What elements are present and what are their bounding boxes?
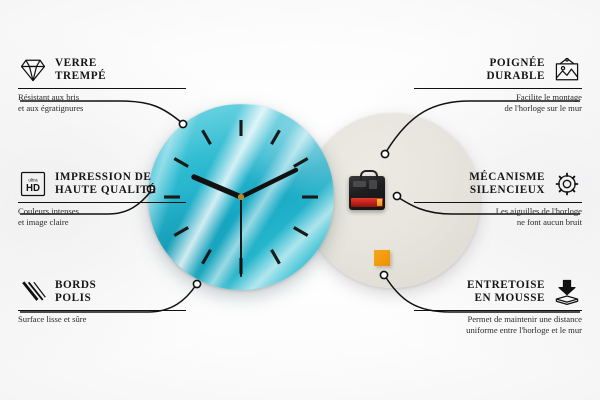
- connector-dot-bords-polis: [193, 280, 200, 287]
- feature-divider: [18, 310, 186, 311]
- connector-dot-entretoise: [380, 271, 387, 278]
- feature-impression-haute-qualite: ultra HD IMPRESSION DE HAUTE QUALITÉ Cou…: [18, 170, 186, 227]
- feature-divider: [18, 202, 186, 203]
- feature-description: Résistant aux bris et aux égratignures: [18, 92, 186, 113]
- feature-verre-trempe: VERRE TREMPÉ Résistant aux bris et aux é…: [18, 56, 186, 113]
- feature-header: MÉCANISME SILENCIEUX: [414, 170, 582, 198]
- feature-mecanisme-silencieux: MÉCANISME SILENCIEUX: [414, 170, 582, 227]
- infographic-canvas: VERRE TREMPÉ Résistant aux bris et aux é…: [0, 0, 600, 400]
- polished-edges-icon: [18, 278, 48, 306]
- ultra-hd-icon: ultra HD: [18, 170, 48, 198]
- diamond-icon: [18, 56, 48, 84]
- feature-header: VERRE TREMPÉ: [18, 56, 186, 84]
- connector-dot-mecanisme: [393, 192, 400, 199]
- svg-text:HD: HD: [26, 183, 40, 194]
- feature-description: Couleurs intenses et image claire: [18, 206, 186, 227]
- feature-header: POIGNÉE DURABLE: [414, 56, 582, 84]
- feature-header: ENTRETOISE EN MOUSSE: [414, 278, 582, 306]
- feature-title: BORDS POLIS: [55, 279, 96, 305]
- feature-entretoise-en-mousse: ENTRETOISE EN MOUSSE Permet de maintenir…: [414, 278, 582, 335]
- feature-divider: [414, 202, 582, 203]
- feature-title: IMPRESSION DE HAUTE QUALITÉ: [55, 171, 156, 197]
- connector-dot-verre-trempe: [179, 120, 186, 127]
- connector-dot-poignee: [381, 150, 388, 157]
- feature-title: ENTRETOISE EN MOUSSE: [467, 279, 545, 305]
- wall-hanger-icon: [552, 56, 582, 84]
- feature-divider: [414, 310, 582, 311]
- feature-header: BORDS POLIS: [18, 278, 186, 306]
- feature-title: POIGNÉE DURABLE: [486, 57, 545, 83]
- foam-spacer-icon: [552, 278, 582, 306]
- gear-icon: [552, 170, 582, 198]
- feature-poignee-durable: POIGNÉE DURABLE Facilite le montage de l…: [414, 56, 582, 113]
- feature-title: VERRE TREMPÉ: [55, 57, 106, 83]
- feature-bords-polis: BORDS POLIS Surface lisse et sûre: [18, 278, 186, 325]
- feature-description: Permet de maintenir une distance uniform…: [414, 314, 582, 335]
- feature-divider: [414, 88, 582, 89]
- feature-description: Surface lisse et sûre: [18, 314, 186, 325]
- feature-divider: [18, 88, 186, 89]
- feature-description: Facilite le montage de l'horloge sur le …: [414, 92, 582, 113]
- feature-title: MÉCANISME SILENCIEUX: [469, 171, 545, 197]
- feature-header: ultra HD IMPRESSION DE HAUTE QUALITÉ: [18, 170, 186, 198]
- feature-description: Les aiguilles de l'horloge ne font aucun…: [414, 206, 582, 227]
